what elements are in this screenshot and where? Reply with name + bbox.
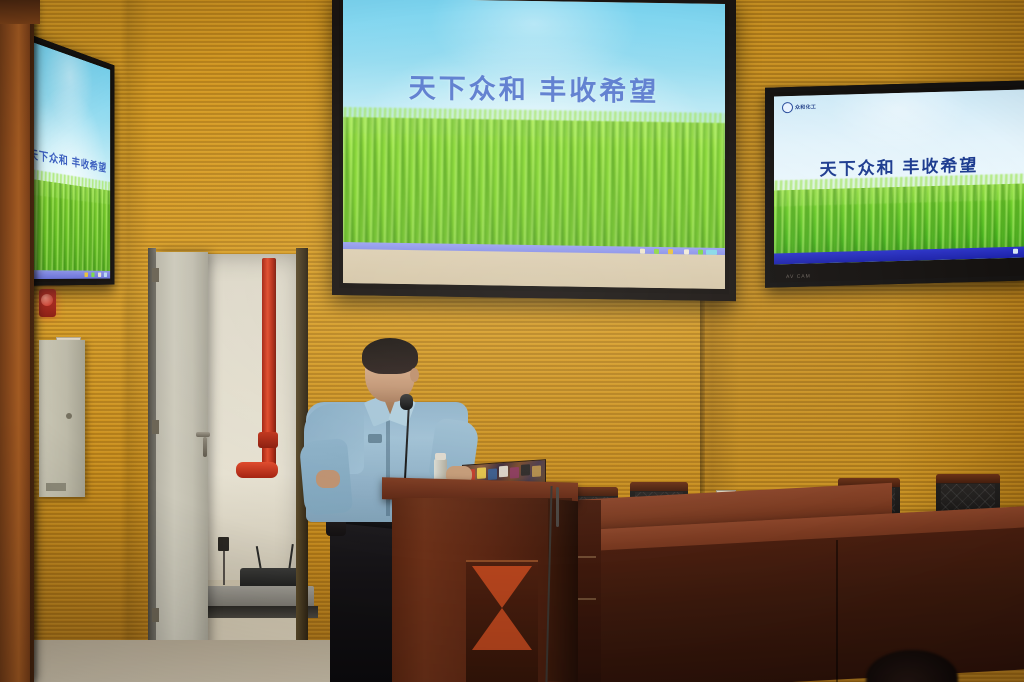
logo-emblem-icon [782, 102, 793, 113]
door-jamb-left [148, 248, 156, 658]
room-floor [34, 640, 334, 682]
room-door[interactable] [156, 252, 208, 652]
podium-inlay-upper-triangle [472, 566, 532, 608]
chair-frame-top [630, 482, 688, 491]
taskbar-icon-4 [104, 273, 107, 277]
water-bottle-cap[interactable] [435, 453, 446, 460]
door-handle[interactable] [196, 432, 210, 437]
right-monitor-screen: 众和化工 天下众和 丰收希望 [774, 90, 1024, 265]
conference-room-photo: 天下众和 丰收希望 [0, 0, 1024, 682]
pillar-top-cap [0, 0, 40, 24]
projection-screen-blank-area [343, 249, 725, 289]
slide-headline: 天下众和 丰收希望 [343, 65, 725, 110]
company-logo: 众和化工 [782, 101, 816, 113]
presenter-ear [410, 368, 419, 382]
podium-side-panel [548, 499, 578, 682]
presenter-shirt-placket [386, 418, 390, 516]
taskbar-icon-2 [91, 272, 94, 276]
slide-sky-glow [36, 39, 101, 159]
fire-alarm-lens-icon [41, 294, 53, 306]
door-hinge-top [152, 268, 159, 282]
projected-image-area: 天下众和 丰收希望 [343, 0, 725, 262]
laptop-sticker [477, 467, 486, 479]
pipe-fitting [258, 432, 278, 448]
pipe-elbow [236, 462, 278, 478]
presenter-left-hand [316, 470, 340, 488]
electrical-panel-cabinet[interactable] [39, 340, 85, 497]
panel-lock-icon[interactable] [66, 413, 72, 419]
corridor-wall-outlet [218, 537, 229, 551]
taskbar-icon-1 [84, 272, 87, 277]
door-hinge-bottom [152, 608, 159, 622]
slide-projector: 天下众和 丰收希望 [343, 0, 725, 262]
outlet-cable [223, 551, 225, 585]
presenter-hair [362, 338, 418, 374]
panel-vent [46, 483, 66, 491]
taskbar-icon-3 [98, 273, 101, 277]
slide-right: 众和化工 天下众和 丰收希望 [774, 90, 1024, 265]
laptop-sticker [532, 465, 541, 477]
pillar-shadow-edge [30, 0, 39, 682]
cable-connector [556, 487, 559, 527]
laptop-sticker [521, 464, 530, 476]
door-handle-shaft[interactable] [203, 437, 207, 457]
slide-rice-field [343, 117, 725, 262]
right-wall-monitor[interactable]: 众和化工 天下众和 丰收希望 AV CAM [765, 80, 1024, 287]
table-panel-seam [836, 540, 838, 682]
laptop-sticker [510, 467, 519, 479]
laptop-sticker [488, 468, 497, 480]
wood-pillar [0, 0, 34, 682]
projection-surface: 天下众和 丰收希望 [343, 0, 725, 289]
microphone-icon[interactable] [400, 394, 413, 410]
chair-frame-top [936, 474, 1000, 483]
door-hinge-middle [152, 420, 159, 434]
main-projection-screen[interactable]: 天下众和 丰收希望 [332, 0, 736, 301]
taskbar-icon-1[interactable] [1013, 249, 1018, 254]
laptop-sticker [499, 466, 508, 478]
logo-text: 众和化工 [795, 103, 816, 111]
slide-field-texture [343, 117, 725, 262]
podium-inlay-lower-triangle [472, 608, 532, 650]
conference-table-front-panel [560, 527, 1024, 682]
presenter-shirt-logo [368, 434, 382, 443]
monitor-bezel-label: AV CAM [786, 273, 811, 280]
